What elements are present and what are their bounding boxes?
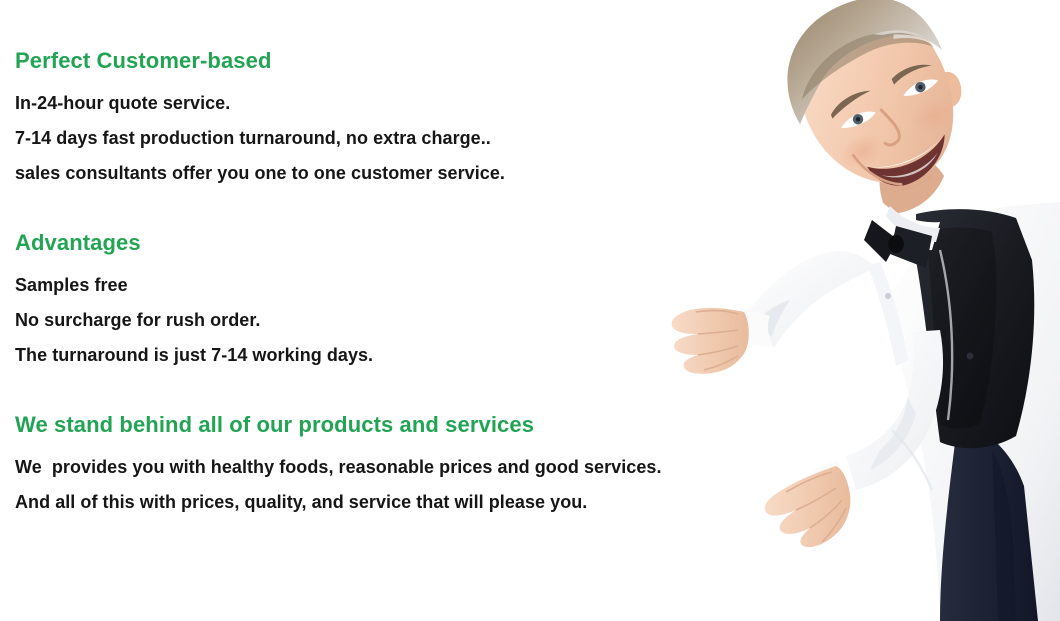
section-body-we-stand-behind: We provides you with healthy foods, reas…: [15, 450, 755, 520]
section-heading-advantages: Advantages: [15, 230, 755, 256]
body-line: Samples free: [15, 268, 755, 303]
section-advantages: Advantages Samples free No surcharge for…: [15, 230, 755, 373]
section-body-advantages: Samples free No surcharge for rush order…: [15, 268, 755, 373]
body-line: 7-14 days fast production turnaround, no…: [15, 121, 755, 156]
body-line: No surcharge for rush order.: [15, 303, 755, 338]
body-line: And all of this with prices, quality, an…: [15, 485, 755, 520]
body-line: The turnaround is just 7-14 working days…: [15, 338, 755, 373]
body-line: sales consultants offer you one to one c…: [15, 156, 755, 191]
promo-banner: Perfect Customer-based In-24-hour quote …: [0, 0, 1060, 621]
section-heading-we-stand-behind: We stand behind all of our products and …: [15, 412, 755, 438]
body-line: We provides you with healthy foods, reas…: [15, 450, 755, 485]
promo-text-column: Perfect Customer-based In-24-hour quote …: [15, 0, 755, 621]
section-perfect-customer-based: Perfect Customer-based In-24-hour quote …: [15, 48, 755, 191]
body-line: In-24-hour quote service.: [15, 86, 755, 121]
section-we-stand-behind: We stand behind all of our products and …: [15, 412, 755, 520]
section-body-perfect-customer-based: In-24-hour quote service. 7-14 days fast…: [15, 86, 755, 191]
section-heading-perfect-customer-based: Perfect Customer-based: [15, 48, 755, 74]
